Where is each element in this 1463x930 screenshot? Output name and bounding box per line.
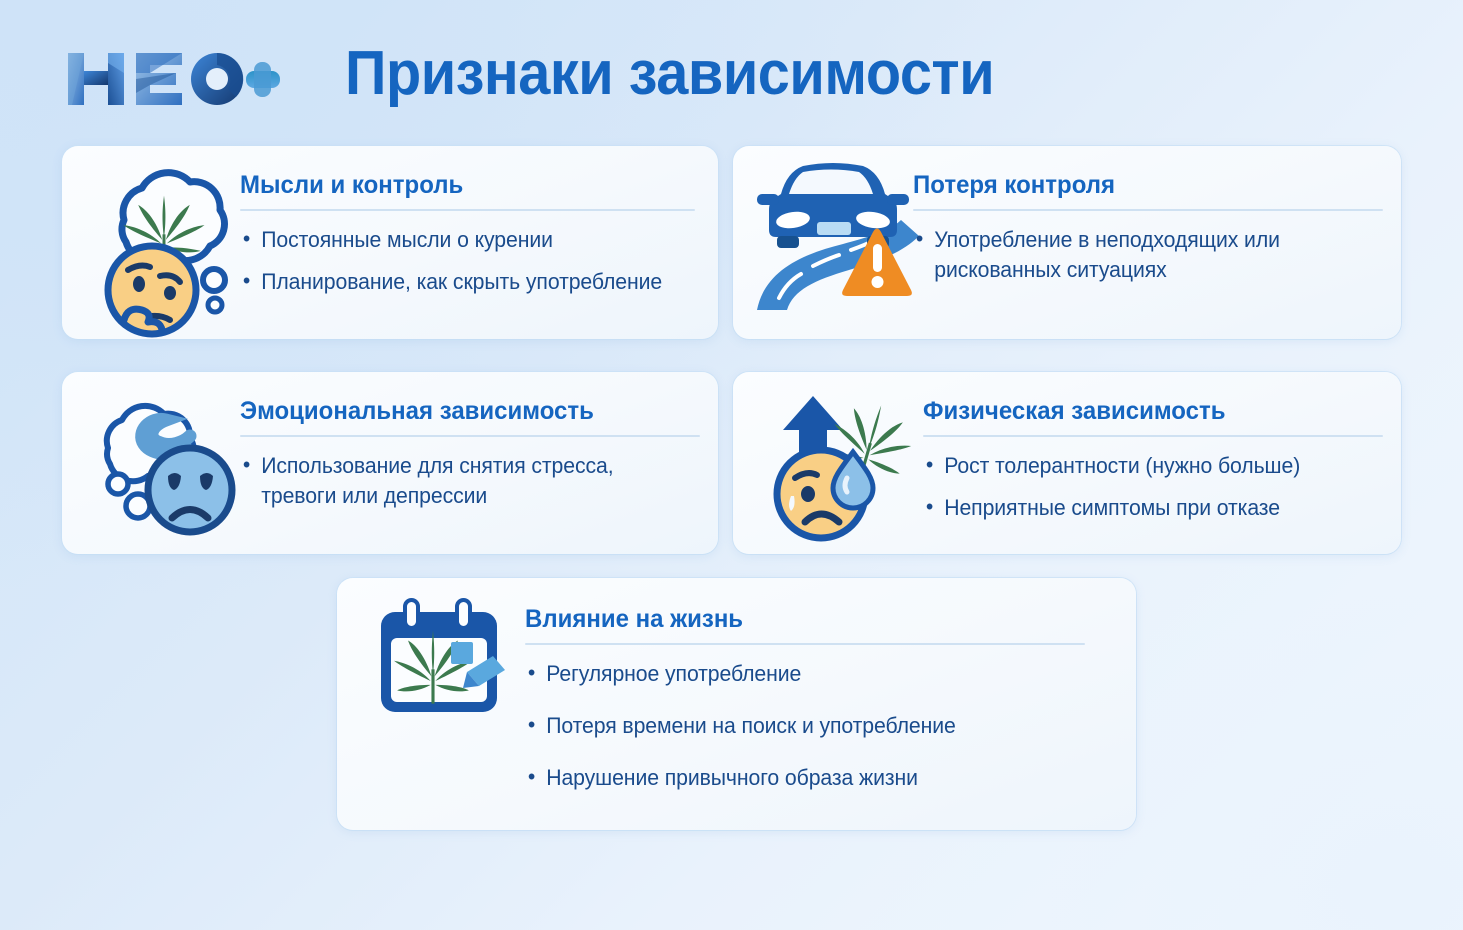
- card-title-physical: Физическая зависимость: [923, 398, 1365, 426]
- list-item: Нарушение привычного образа жизни: [525, 763, 1065, 793]
- up-arrow-leaf-anxious-face-sweat-icon: [761, 382, 926, 552]
- card-life: Влияние на жизнь Регулярное употребление…: [337, 578, 1136, 830]
- list-item: Неприятные симптомы при отказе: [923, 493, 1367, 523]
- infographic-canvas: Признаки зависимости: [0, 0, 1463, 930]
- card-divider: [240, 209, 695, 211]
- card-divider: [240, 435, 700, 437]
- car-road-warning-triangle-icon: [751, 158, 923, 323]
- card-physical: Физическая зависимость Рост толерантност…: [733, 372, 1401, 554]
- neo-plus-logo: [62, 43, 282, 113]
- card-divider: [525, 643, 1085, 645]
- card-title-life: Влияние на жизнь: [525, 606, 1063, 634]
- list-item: Употребление в неподходящих или рискован…: [913, 225, 1367, 286]
- card-emotional: Эмоциональная зависимость Использование …: [62, 372, 718, 554]
- bullet-list-thoughts: Постоянные мысли о курении Планирование,…: [240, 225, 695, 298]
- sad-blue-face-thought-bubble-icon: [90, 390, 255, 545]
- card-divider: [913, 209, 1383, 211]
- list-item: Использование для снятия стресса, тревог…: [240, 451, 684, 512]
- card-divider: [923, 435, 1383, 437]
- card-control: Потеря контроля Употребление в неподходя…: [733, 146, 1401, 339]
- list-item: Постоянные мысли о курении: [240, 225, 679, 255]
- card-title-thoughts: Мысли и контроль: [240, 172, 677, 200]
- page-title: Признаки зависимости: [345, 38, 994, 109]
- bullet-list-emotional: Использование для снятия стресса, тревог…: [240, 451, 700, 512]
- list-item: Рост толерантности (нужно больше): [923, 451, 1367, 481]
- card-title-emotional: Эмоциональная зависимость: [240, 398, 682, 426]
- card-thoughts: Мысли и контроль Постоянные мысли о куре…: [62, 146, 718, 339]
- list-item: Планирование, как скрыть употребление: [240, 267, 679, 297]
- list-item: Регулярное употребление: [525, 659, 1065, 689]
- thinking-face-thought-bubble-leaf-icon: [84, 160, 254, 345]
- list-item: Потеря времени на поиск и употребление: [525, 711, 1065, 741]
- card-title-control: Потеря контроля: [913, 172, 1364, 200]
- bullet-list-physical: Рост толерантности (нужно больше) Неприя…: [923, 451, 1383, 524]
- bullet-list-control: Употребление в неподходящих или рискован…: [913, 225, 1383, 286]
- calendar-leaf-pencil-icon: [375, 598, 515, 723]
- page-header: Признаки зависимости: [0, 0, 1463, 140]
- bullet-list-life: Регулярное употребление Потеря времени н…: [525, 659, 1085, 794]
